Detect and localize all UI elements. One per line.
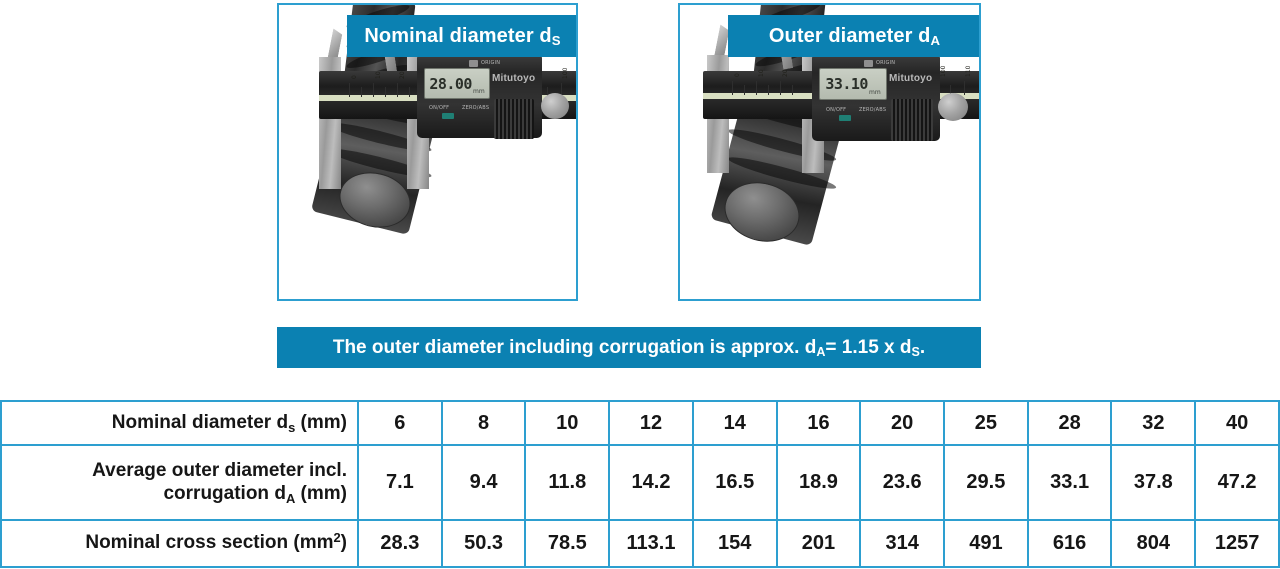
caliper-display-unit: mm <box>868 89 881 99</box>
caliper-display-value: 33.10 <box>825 75 868 93</box>
onoff-button <box>442 113 454 119</box>
caliper-lcd: 28.00 mm <box>424 68 490 99</box>
table-cell: 9.4 <box>442 445 526 520</box>
caliper-thumbwheel <box>541 93 569 119</box>
scale-tick <box>756 81 757 95</box>
row-label-text-2: corrugation d <box>163 483 285 504</box>
table-cell: 37.8 <box>1111 445 1195 520</box>
photo-card-outer-diameter: 0 10 20 100 110 ORIGIN 33.10 mm Mitutoyo… <box>678 3 981 301</box>
scale-tick <box>768 85 769 95</box>
table-cell: 113.1 <box>609 520 693 567</box>
origin-switch-label: ORIGIN <box>481 60 500 66</box>
onoff-button-label: ON/OFF <box>429 105 449 111</box>
scale-number: 100 <box>940 66 947 77</box>
table-cell: 47.2 <box>1195 445 1279 520</box>
formula-sub-s: S <box>912 345 920 359</box>
photo-card-nominal-diameter: 0 10 20 90 100 ORIGIN 28.00 mm Mitutoyo … <box>277 3 578 301</box>
table-cell: 11.8 <box>525 445 609 520</box>
table-cell: 23.6 <box>860 445 944 520</box>
table-cell: 14.2 <box>609 445 693 520</box>
table-cell: 14 <box>693 401 777 445</box>
table-cell: 78.5 <box>525 520 609 567</box>
card-banner-outer: Outer diameter dA <box>728 15 981 57</box>
formula-text-after: . <box>920 337 925 359</box>
scale-number: 20 <box>399 71 406 79</box>
row-label-text: Nominal diameter d <box>112 412 288 433</box>
scale-tick <box>409 87 410 97</box>
card-banner-label: Nominal diameter d <box>364 25 551 48</box>
table-row: Nominal diameter ds (mm) 6 8 10 12 14 16… <box>1 401 1279 445</box>
formula-text-middle: = 1.15 x d <box>825 337 911 359</box>
zeroabs-button-label: ZERO/ABS <box>462 105 489 111</box>
row-label-unit: (mm) <box>295 483 347 504</box>
row-label-subscript: s <box>288 420 295 435</box>
row-label-unit: ) <box>341 532 347 553</box>
row-label-nominal-cross-section: Nominal cross section (mm2) <box>1 520 358 567</box>
table-cell: 1257 <box>1195 520 1279 567</box>
rebar-spec-table: Nominal diameter ds (mm) 6 8 10 12 14 16… <box>0 400 1280 568</box>
table-cell: 29.5 <box>944 445 1028 520</box>
table-cell: 7.1 <box>358 445 442 520</box>
origin-switch-label: ORIGIN <box>876 60 895 66</box>
caliper-knurled-grip <box>494 99 534 139</box>
formula-text-before: The outer diameter including corrugation… <box>333 337 817 359</box>
scale-number: 110 <box>965 66 972 77</box>
table-cell: 33.1 <box>1028 445 1112 520</box>
table-cell: 32 <box>1111 401 1195 445</box>
card-banner-label: Outer diameter d <box>769 25 931 48</box>
scale-number: 10 <box>758 69 765 77</box>
scale-tick <box>744 85 745 95</box>
scale-number: 0 <box>734 73 741 77</box>
row-label-subscript: A <box>286 491 295 506</box>
caliper-brand-label: Mitutoyo <box>889 73 932 84</box>
caliper-brand-label: Mitutoyo <box>492 73 535 84</box>
scale-tick <box>780 81 781 95</box>
table-cell: 50.3 <box>442 520 526 567</box>
row-label-text: Nominal cross section (mm <box>85 532 333 553</box>
caliper-display-value: 28.00 <box>429 75 472 93</box>
table-cell: 16.5 <box>693 445 777 520</box>
scale-number: 100 <box>562 68 569 79</box>
caliper-thumbwheel <box>938 93 968 121</box>
table-cell: 16 <box>777 401 861 445</box>
table-cell: 25 <box>944 401 1028 445</box>
table-cell: 28 <box>1028 401 1112 445</box>
scale-tick <box>373 83 374 97</box>
row-label-superscript: 2 <box>333 530 340 545</box>
scale-number: 20 <box>782 69 789 77</box>
table-cell: 201 <box>777 520 861 567</box>
table-cell: 8 <box>442 401 526 445</box>
row-label-unit: (mm) <box>295 412 347 433</box>
row-label-text: Average outer diameter incl. <box>92 460 347 481</box>
card-banner-nominal: Nominal diameter dS <box>347 15 578 57</box>
caliper-knurled-grip <box>891 99 933 141</box>
table-row: Nominal cross section (mm2) 28.3 50.3 78… <box>1 520 1279 567</box>
origin-switch <box>864 60 873 67</box>
table-cell: 28.3 <box>358 520 442 567</box>
table-cell: 314 <box>860 520 944 567</box>
scale-tick <box>349 83 350 97</box>
origin-switch <box>469 60 478 67</box>
table-cell: 804 <box>1111 520 1195 567</box>
scale-tick <box>397 83 398 97</box>
row-label-nominal-diameter: Nominal diameter ds (mm) <box>1 401 358 445</box>
scale-tick <box>964 81 965 95</box>
row-label-average-outer-diameter: Average outer diameter incl.corrugation … <box>1 445 358 520</box>
card-banner-subscript: A <box>931 33 941 48</box>
zeroabs-button-label: ZERO/ABS <box>859 107 886 113</box>
scale-number: 10 <box>375 71 382 79</box>
table-cell: 12 <box>609 401 693 445</box>
scale-tick <box>385 87 386 97</box>
caliper-lcd: 33.10 mm <box>819 68 887 100</box>
scale-tick <box>732 81 733 95</box>
scale-tick <box>361 87 362 97</box>
table-cell: 6 <box>358 401 442 445</box>
card-banner-subscript: S <box>552 33 561 48</box>
table-cell: 10 <box>525 401 609 445</box>
scale-tick <box>792 85 793 95</box>
scale-number: 0 <box>351 75 358 79</box>
table-cell: 20 <box>860 401 944 445</box>
table-cell: 491 <box>944 520 1028 567</box>
formula-sub-a: A <box>816 345 825 359</box>
caliper-display-unit: mm <box>472 88 485 98</box>
table-row: Average outer diameter incl.corrugation … <box>1 445 1279 520</box>
formula-banner: The outer diameter including corrugation… <box>277 327 981 368</box>
onoff-button-label: ON/OFF <box>826 107 846 113</box>
table-cell: 18.9 <box>777 445 861 520</box>
onoff-button <box>839 115 851 121</box>
table-cell: 40 <box>1195 401 1279 445</box>
table-cell: 154 <box>693 520 777 567</box>
table-cell: 616 <box>1028 520 1112 567</box>
